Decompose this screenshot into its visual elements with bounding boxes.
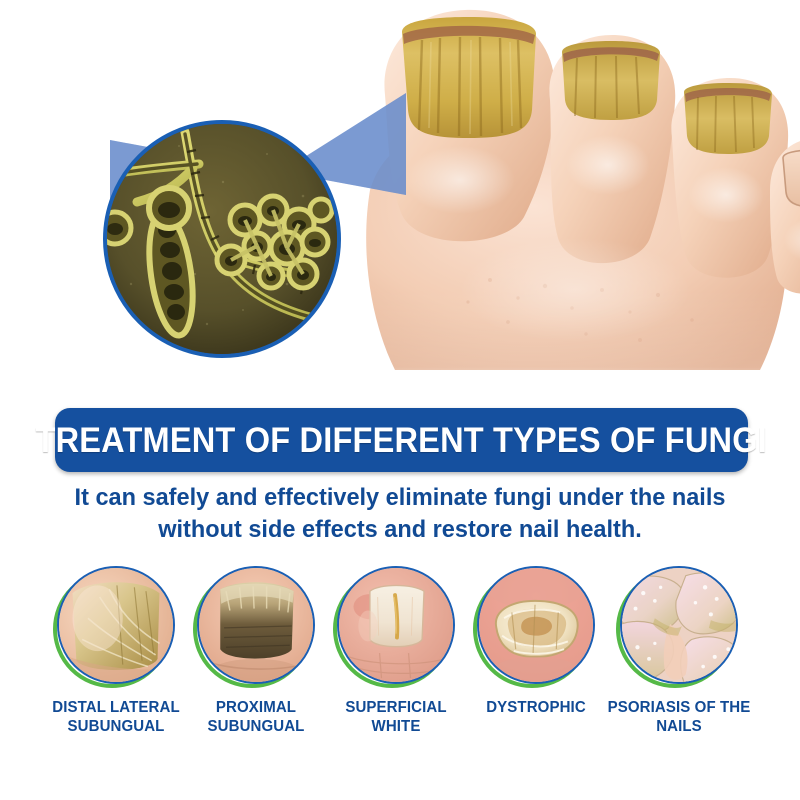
thumb-psoriasis-of-the-nails[interactable]: PSORIASIS OF THE NAILS <box>604 566 754 737</box>
proximal-subungual-photo <box>199 568 313 682</box>
hero-illustration <box>0 0 800 400</box>
thumb-distal-lateral-subungual[interactable]: DISTAL LATERAL SUBUNGUAL <box>41 566 191 737</box>
thumb-ring <box>337 566 455 684</box>
thumb-dystrophic[interactable]: DYSTROPHIC <box>461 566 611 717</box>
thumb-superficial-white[interactable]: SUPERFICIAL WHITE <box>321 566 471 737</box>
thumb-ring <box>197 566 315 684</box>
thumb-label: PSORIASIS OF THE NAILS <box>606 698 752 737</box>
fungus-type-gallery: DISTAL LATERAL SUBUNGUAL <box>0 566 800 766</box>
thumb-ring <box>57 566 175 684</box>
ring-blue-outline <box>57 566 175 684</box>
infographic-page: TREATMENT OF DIFFERENT TYPES OF FUNGI It… <box>0 0 800 800</box>
microscope-inset <box>103 120 341 358</box>
subtitle-text: It can safely and effectively eliminate … <box>74 482 727 546</box>
banner-title: TREATMENT OF DIFFERENT TYPES OF FUNGI <box>36 423 767 458</box>
ring-blue-outline <box>197 566 315 684</box>
superficial-white-photo <box>339 568 453 682</box>
thumb-label: SUPERFICIAL WHITE <box>323 698 469 737</box>
thumb-label: DYSTROPHIC <box>463 698 609 717</box>
ring-blue-outline <box>620 566 738 684</box>
thumb-ring <box>620 566 738 684</box>
distal-lateral-subungual-photo <box>59 568 173 682</box>
thumb-proximal-subungual[interactable]: PROXIMAL SUBUNGUAL <box>181 566 331 737</box>
thumb-label: PROXIMAL SUBUNGUAL <box>183 698 329 737</box>
thumb-label: DISTAL LATERAL SUBUNGUAL <box>43 698 189 737</box>
ring-blue-outline <box>337 566 455 684</box>
psoriasis-of-the-nails-photo <box>622 568 736 682</box>
fungus-microscopy-image <box>107 124 337 354</box>
headline-banner: TREATMENT OF DIFFERENT TYPES OF FUNGI <box>55 408 748 472</box>
thumb-ring <box>477 566 595 684</box>
ring-blue-outline <box>477 566 595 684</box>
dystrophic-photo <box>479 568 593 682</box>
